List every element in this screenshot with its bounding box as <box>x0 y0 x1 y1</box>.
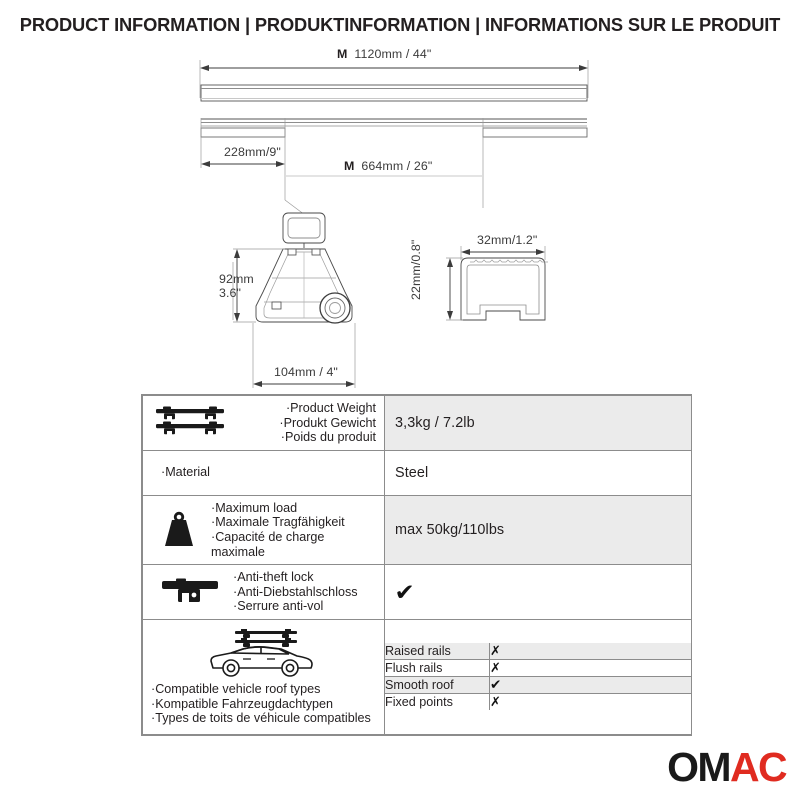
omac-logo: OMAC <box>667 747 786 788</box>
label-line: ·Anti-Diebstahlschloss <box>233 585 378 600</box>
roof-type-name: Flush rails <box>385 660 490 677</box>
spec-label-cell: ·Maximum load ·Maximale Tragfähigkeit ·C… <box>143 495 385 564</box>
dimension-bar-spread: M664mm / 26" <box>344 159 432 173</box>
spec-label-cell: ·Anti-theft lock ·Anti-Diebstahlschloss … <box>143 565 385 620</box>
page-header: PRODUCT INFORMATION | PRODUKTINFORMATION… <box>0 14 800 36</box>
label-line: ·Poids du produit <box>233 430 376 445</box>
drawing-vectors <box>0 40 800 388</box>
spec-value-cell: ✔ <box>385 565 692 620</box>
roof-types-label-text: ·Compatible vehicle roof types ·Kompatib… <box>149 682 371 726</box>
dimension-overall-length: M1120mm / 44" <box>337 47 431 61</box>
cross-icon: ✗ <box>490 660 501 675</box>
dimension-profile-height-value: 22mm/0.8" <box>409 240 423 300</box>
product-weight-value: 3,3kg / 7.2lb <box>385 409 691 437</box>
spec-label-cell: ·Product Weight ·Produkt Gewicht ·Poids … <box>143 396 385 451</box>
product-information-sheet: PRODUCT INFORMATION | PRODUKTINFORMATION… <box>0 0 800 800</box>
label-line: ·Product Weight <box>233 401 376 416</box>
spec-label-text: ·Maximum load ·Maximale Tragfähigkeit ·C… <box>207 501 378 559</box>
label-line: ·Material <box>161 465 378 480</box>
roof-type-mark: ✔ <box>490 677 692 694</box>
page-title: PRODUCT INFORMATION | PRODUKTINFORMATION… <box>0 14 800 36</box>
roof-types-label-cell: ·Compatible vehicle roof types ·Kompatib… <box>143 619 385 734</box>
roof-type-name: Fixed points <box>385 694 490 711</box>
table-row: ·Material Steel <box>143 450 692 495</box>
roof-type-row: Raised rails ✗ <box>385 643 691 660</box>
marker-m: M <box>337 47 347 61</box>
roof-type-name: Smooth roof <box>385 677 490 694</box>
label-line: ·Kompatible Fahrzeugdachtypen <box>151 697 371 712</box>
check-icon: ✔ <box>490 677 501 692</box>
spec-value-cell: Steel <box>385 450 692 495</box>
dimension-foot-width: 104mm / 4" <box>274 365 338 379</box>
roof-type-mark: ✗ <box>490 694 692 711</box>
logo-accent-text: AC <box>730 744 786 790</box>
label-line: ·Maximum load <box>211 501 378 516</box>
max-load-value: max 50kg/110lbs <box>385 516 691 544</box>
roof-type-row: Smooth roof ✔ <box>385 677 691 694</box>
dimension-end-offset-value: 228mm/9" <box>224 145 281 159</box>
spec-label-text: ·Anti-theft lock ·Anti-Diebstahlschloss … <box>229 570 378 614</box>
roof-type-mark: ✗ <box>490 660 692 677</box>
dimension-overall-length-value: 1120mm / 44" <box>354 47 431 61</box>
dimension-foot-height-in: 3.6" <box>219 286 254 300</box>
table-row: ·Maximum load ·Maximale Tragfähigkeit ·C… <box>143 495 692 564</box>
spec-value-cell: max 50kg/110lbs <box>385 495 692 564</box>
weight-icon <box>151 511 207 549</box>
label-line: ·Produkt Gewicht <box>233 416 376 431</box>
label-line: ·Anti-theft lock <box>233 570 378 585</box>
crossbar-pair-icon <box>151 406 229 440</box>
roof-type-row: Flush rails ✗ <box>385 660 691 677</box>
roof-types-table: Raised rails ✗ Flush rails ✗ <box>385 643 691 710</box>
dimension-foot-height: 92mm 3.6" <box>219 272 254 300</box>
table-row: ·Compatible vehicle roof types ·Kompatib… <box>143 619 692 734</box>
spec-label-cell: ·Material <box>143 450 385 495</box>
marker-m: M <box>344 159 354 173</box>
material-value: Steel <box>385 459 691 487</box>
specification-table: ·Product Weight ·Produkt Gewicht ·Poids … <box>141 394 692 736</box>
dimension-foot-width-value: 104mm / 4" <box>274 365 338 379</box>
check-icon: ✔ <box>395 582 415 602</box>
dimension-profile-height: 22mm/0.8" <box>409 240 423 300</box>
table-row: ·Product Weight ·Produkt Gewicht ·Poids … <box>143 396 692 451</box>
dimension-bar-spread-value: 664mm / 26" <box>361 159 432 173</box>
label-line: ·Maximale Tragfähigkeit <box>211 515 378 530</box>
technical-drawing: M1120mm / 44" 228mm/9" M664mm / 26" 92mm… <box>0 40 800 388</box>
dimension-profile-width: 32mm/1.2" <box>477 233 537 247</box>
roof-type-name: Raised rails <box>385 643 490 660</box>
cross-icon: ✗ <box>490 643 501 658</box>
spec-value-cell: 3,3kg / 7.2lb <box>385 396 692 451</box>
roof-type-mark: ✗ <box>490 643 692 660</box>
label-line: ·Compatible vehicle roof types <box>151 682 371 697</box>
table-row: ·Anti-theft lock ·Anti-Diebstahlschloss … <box>143 565 692 620</box>
dimension-foot-height-mm: 92mm <box>219 272 254 286</box>
cross-icon: ✗ <box>490 694 501 709</box>
roof-type-row: Fixed points ✗ <box>385 694 691 711</box>
dimension-end-offset: 228mm/9" <box>224 145 281 159</box>
spec-label-text: ·Material <box>151 465 378 480</box>
lock-icon <box>151 576 229 608</box>
spec-label-text: ·Product Weight ·Produkt Gewicht ·Poids … <box>229 401 378 445</box>
roof-types-value-cell: Raised rails ✗ Flush rails ✗ <box>385 619 692 734</box>
anti-theft-value: ✔ <box>385 576 691 609</box>
car-with-roof-rack-icon <box>205 628 323 678</box>
label-line: ·Types de toits de véhicule compatibles <box>151 711 371 726</box>
label-line: ·Capacité de charge maximale <box>211 530 378 559</box>
logo-dark-text: OM <box>667 744 730 790</box>
dimension-profile-width-value: 32mm/1.2" <box>477 233 537 247</box>
label-line: ·Serrure anti-vol <box>233 599 378 614</box>
